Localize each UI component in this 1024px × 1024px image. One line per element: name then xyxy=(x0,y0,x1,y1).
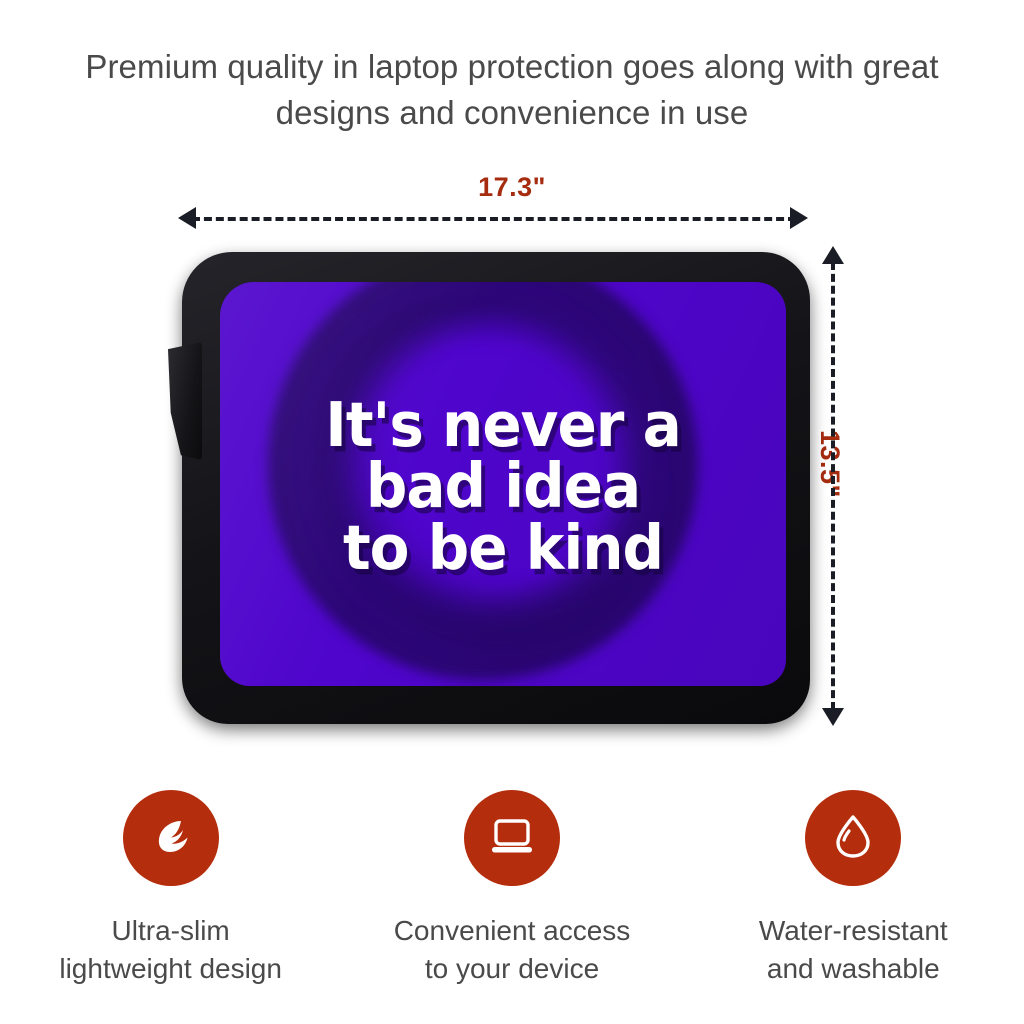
zipper-pull-icon xyxy=(168,342,202,460)
arrow-right-icon xyxy=(790,207,808,229)
feature-caption: Water-resistant and washable xyxy=(759,912,948,988)
artwork-text-block: It's never a bad idea to be kind xyxy=(220,282,786,686)
width-dimension-label: 17.3" xyxy=(0,172,1024,203)
feature-item-convenient-access: Convenient access to your device xyxy=(341,790,682,988)
feature-caption: Convenient access to your device xyxy=(394,912,631,988)
page-headline: Premium quality in laptop protection goe… xyxy=(42,44,982,135)
feature-item-water-resistant: Water-resistant and washable xyxy=(683,790,1024,988)
feature-icon-badge xyxy=(464,790,560,886)
artwork-line-1: It's never a xyxy=(325,394,680,457)
feature-list: Ultra-slim lightweight design Convenient… xyxy=(0,790,1024,988)
water-drop-icon xyxy=(825,808,881,869)
laptop-icon xyxy=(484,808,540,869)
sleeve-printed-face: It's never a bad idea to be kind xyxy=(220,282,786,686)
sleeve-outer-shell: It's never a bad idea to be kind xyxy=(182,252,810,724)
arrow-left-icon xyxy=(178,207,196,229)
artwork-line-3: to be kind xyxy=(343,517,663,580)
feature-caption: Ultra-slim lightweight design xyxy=(59,912,282,988)
feather-icon xyxy=(143,808,199,869)
feature-icon-badge xyxy=(123,790,219,886)
product-image-laptop-sleeve: It's never a bad idea to be kind xyxy=(176,248,816,728)
feature-item-ultra-slim: Ultra-slim lightweight design xyxy=(0,790,341,988)
feature-icon-badge xyxy=(805,790,901,886)
arrow-down-icon xyxy=(822,708,844,726)
width-dimension-line xyxy=(192,217,796,221)
artwork-line-2: bad idea xyxy=(366,456,640,519)
height-dimension-label: 13.5" xyxy=(814,430,845,498)
arrow-up-icon xyxy=(822,246,844,264)
height-dimension-line xyxy=(831,262,835,710)
